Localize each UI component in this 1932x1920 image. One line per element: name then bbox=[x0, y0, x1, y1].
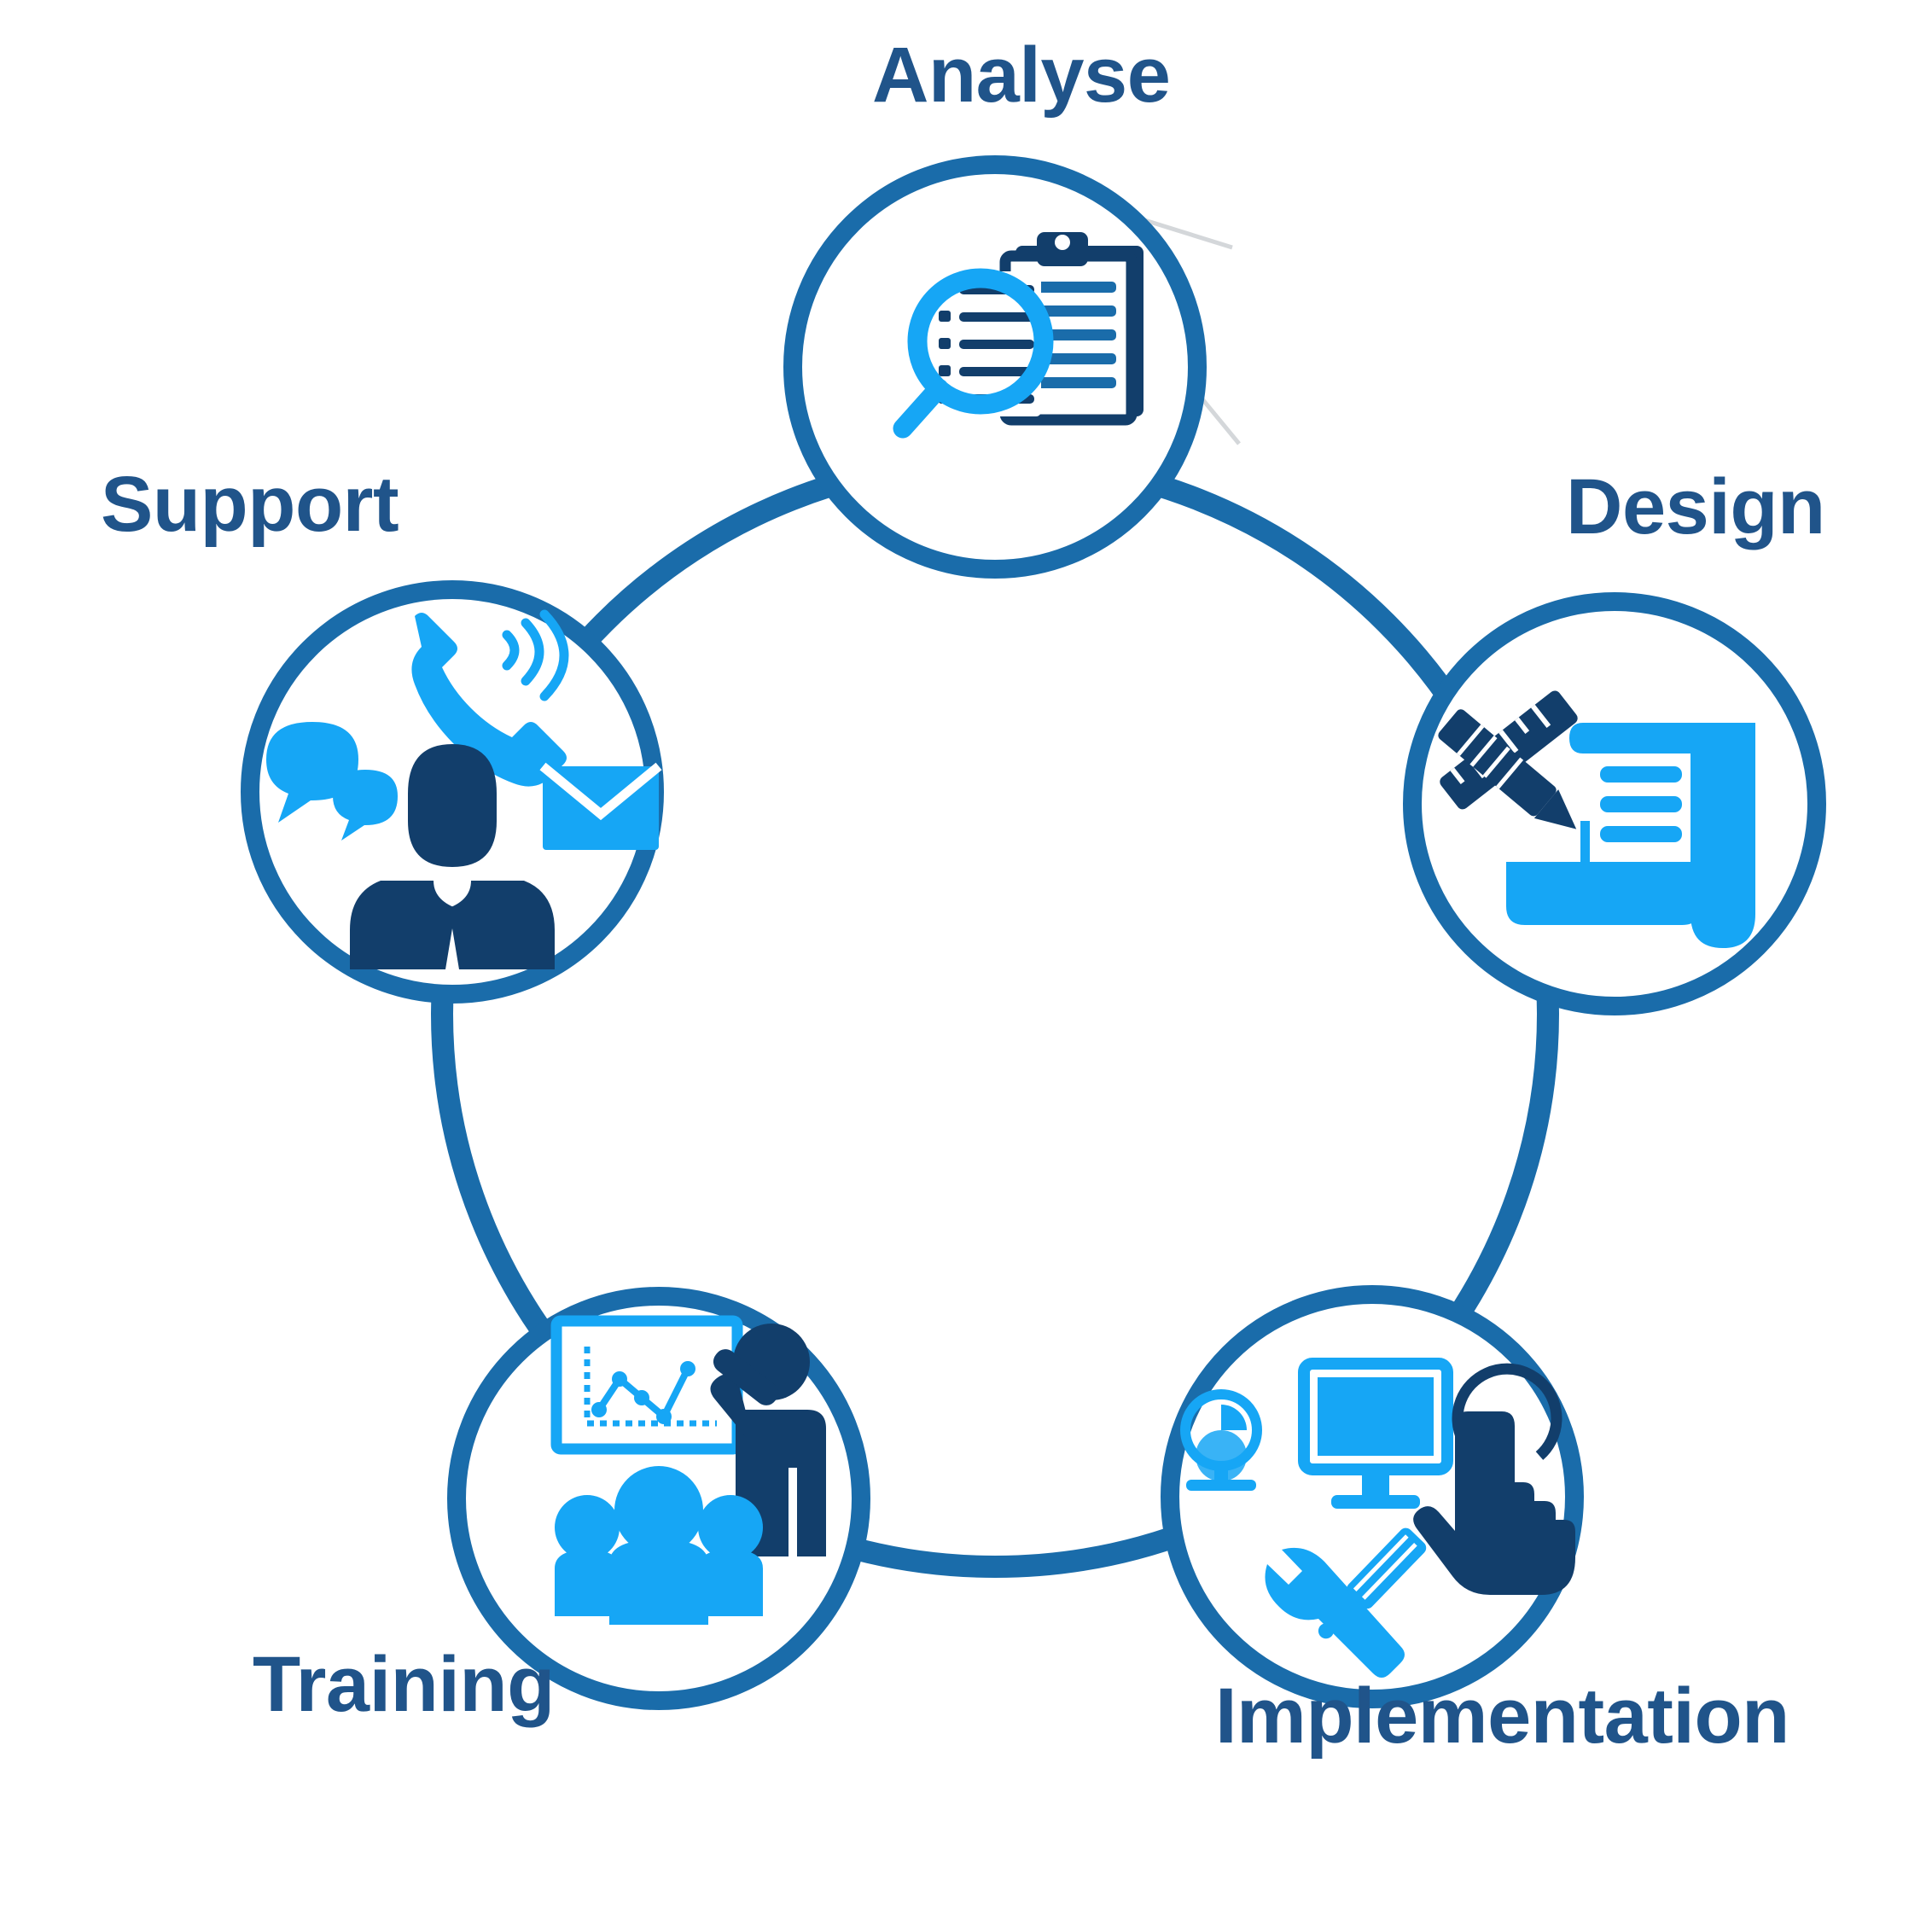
process-cycle-diagram: Analyse Design Implementation Training S… bbox=[0, 0, 1932, 1920]
node-label-training: Training bbox=[253, 1645, 555, 1724]
node-label-design: Design bbox=[1566, 468, 1825, 546]
node-label-support: Support bbox=[101, 465, 399, 544]
node-label-implementation: Implementation bbox=[1215, 1677, 1789, 1755]
node-implementation[interactable] bbox=[1170, 1295, 1575, 1699]
node-design[interactable] bbox=[1412, 602, 1817, 1006]
node-analyse[interactable] bbox=[793, 165, 1197, 569]
node-support[interactable] bbox=[250, 590, 659, 994]
node-training[interactable] bbox=[457, 1296, 861, 1701]
node-label-analyse: Analyse bbox=[872, 36, 1170, 114]
cycle-diagram-canvas bbox=[0, 0, 1932, 1920]
